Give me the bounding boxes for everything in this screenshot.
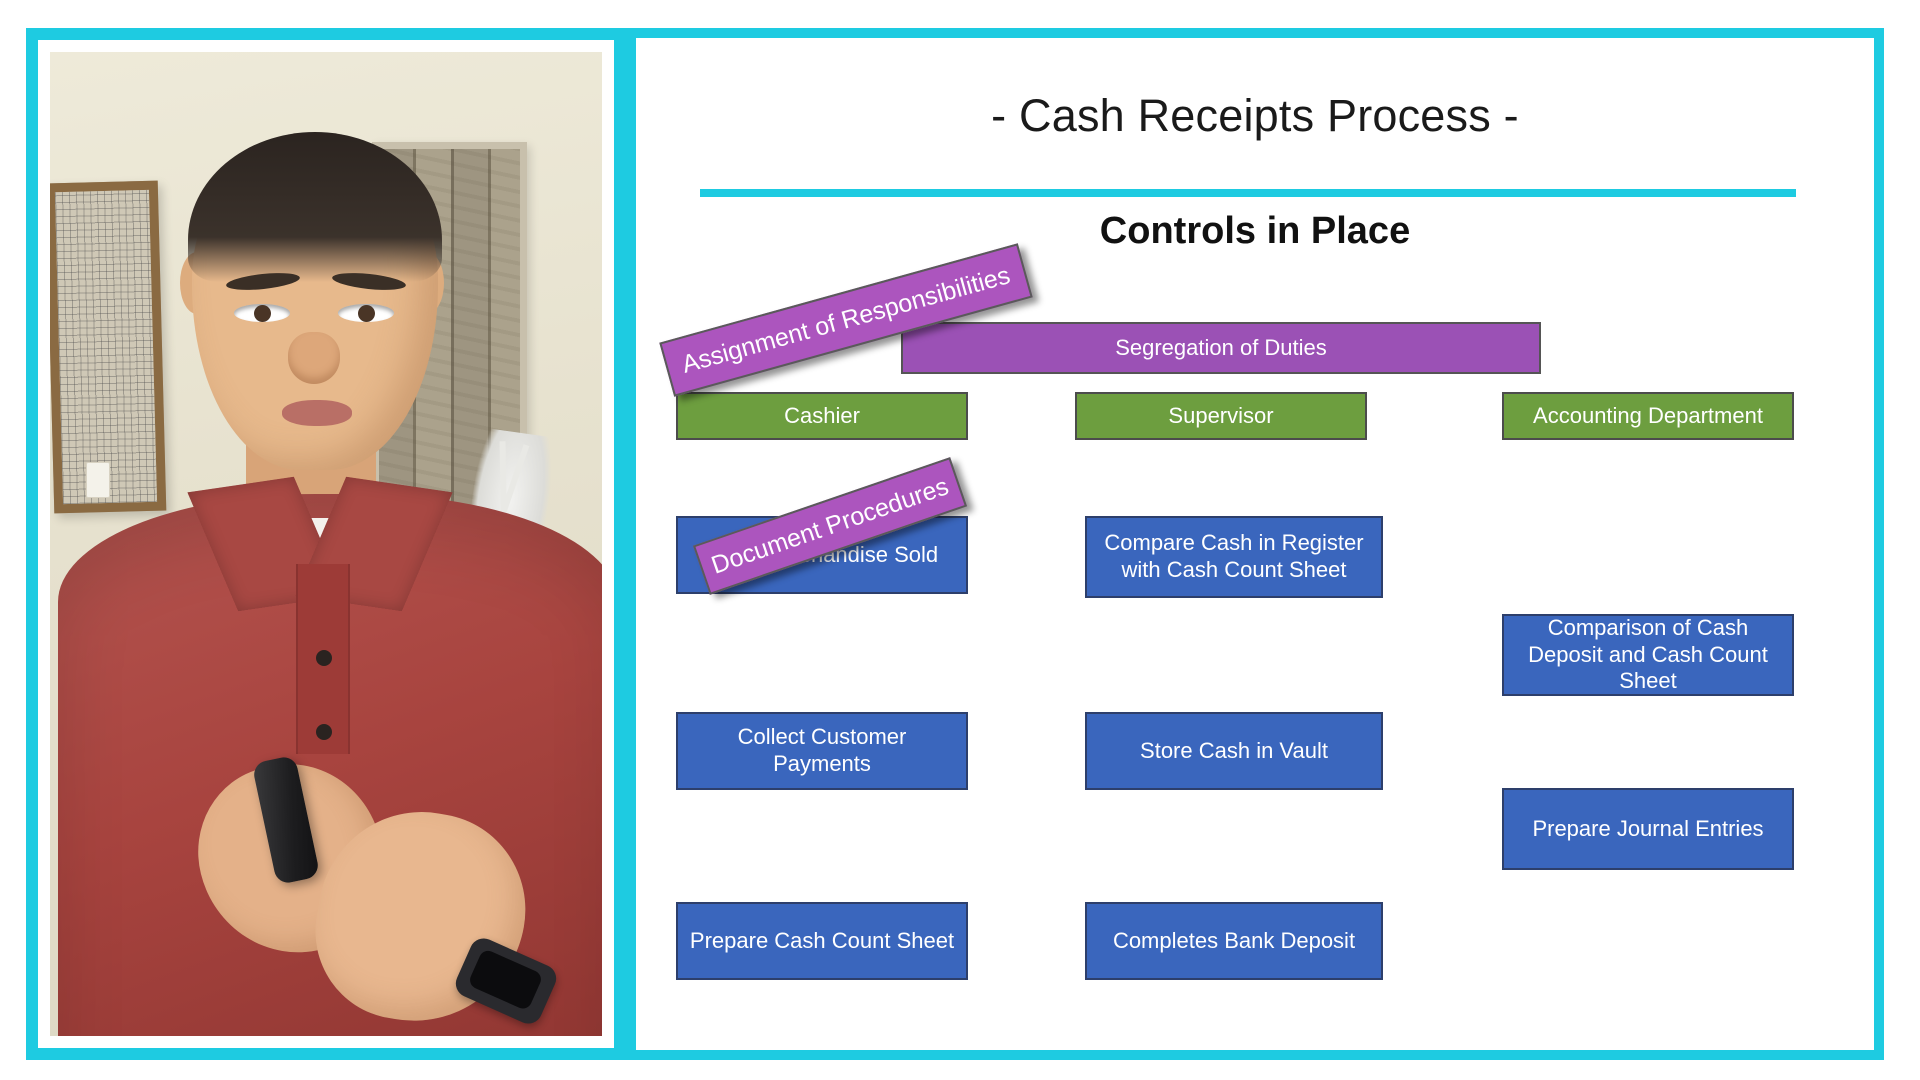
hair [188, 132, 442, 282]
presenter-person [50, 52, 602, 1036]
task-box-accounting-1: Comparison of Cash Deposit and Cash Coun… [1502, 614, 1794, 696]
presenter-video-panel [26, 28, 626, 1060]
title-divider-rule [700, 189, 1796, 197]
task-box-cashier-2: Collect Customer Payments [676, 712, 968, 790]
eye-left [234, 304, 290, 322]
task-box-supervisor-1: Compare Cash in Register with Cash Count… [1085, 516, 1383, 598]
presenter-video-frame [50, 52, 602, 1036]
task-box-accounting-2: Prepare Journal Entries [1502, 788, 1794, 870]
shirt-button [316, 724, 332, 740]
task-box-cashier-3: Prepare Cash Count Sheet [676, 902, 968, 980]
role-box-supervisor: Supervisor [1075, 392, 1367, 440]
page-subtitle: Controls in Place [636, 210, 1874, 253]
task-box-supervisor-3: Completes Bank Deposit [1085, 902, 1383, 980]
shirt-button [316, 650, 332, 666]
task-box-supervisor-2: Store Cash in Vault [1085, 712, 1383, 790]
mouth [282, 400, 352, 426]
role-box-cashier: Cashier [676, 392, 968, 440]
nose [288, 332, 340, 384]
role-box-accounting-department: Accounting Department [1502, 392, 1794, 440]
slide-screenshot: - Cash Receipts Process - Controls in Pl… [0, 0, 1920, 1080]
eye-right [338, 304, 394, 322]
segregation-of-duties-banner: Segregation of Duties [901, 322, 1541, 374]
page-title: - Cash Receipts Process - [636, 90, 1874, 142]
